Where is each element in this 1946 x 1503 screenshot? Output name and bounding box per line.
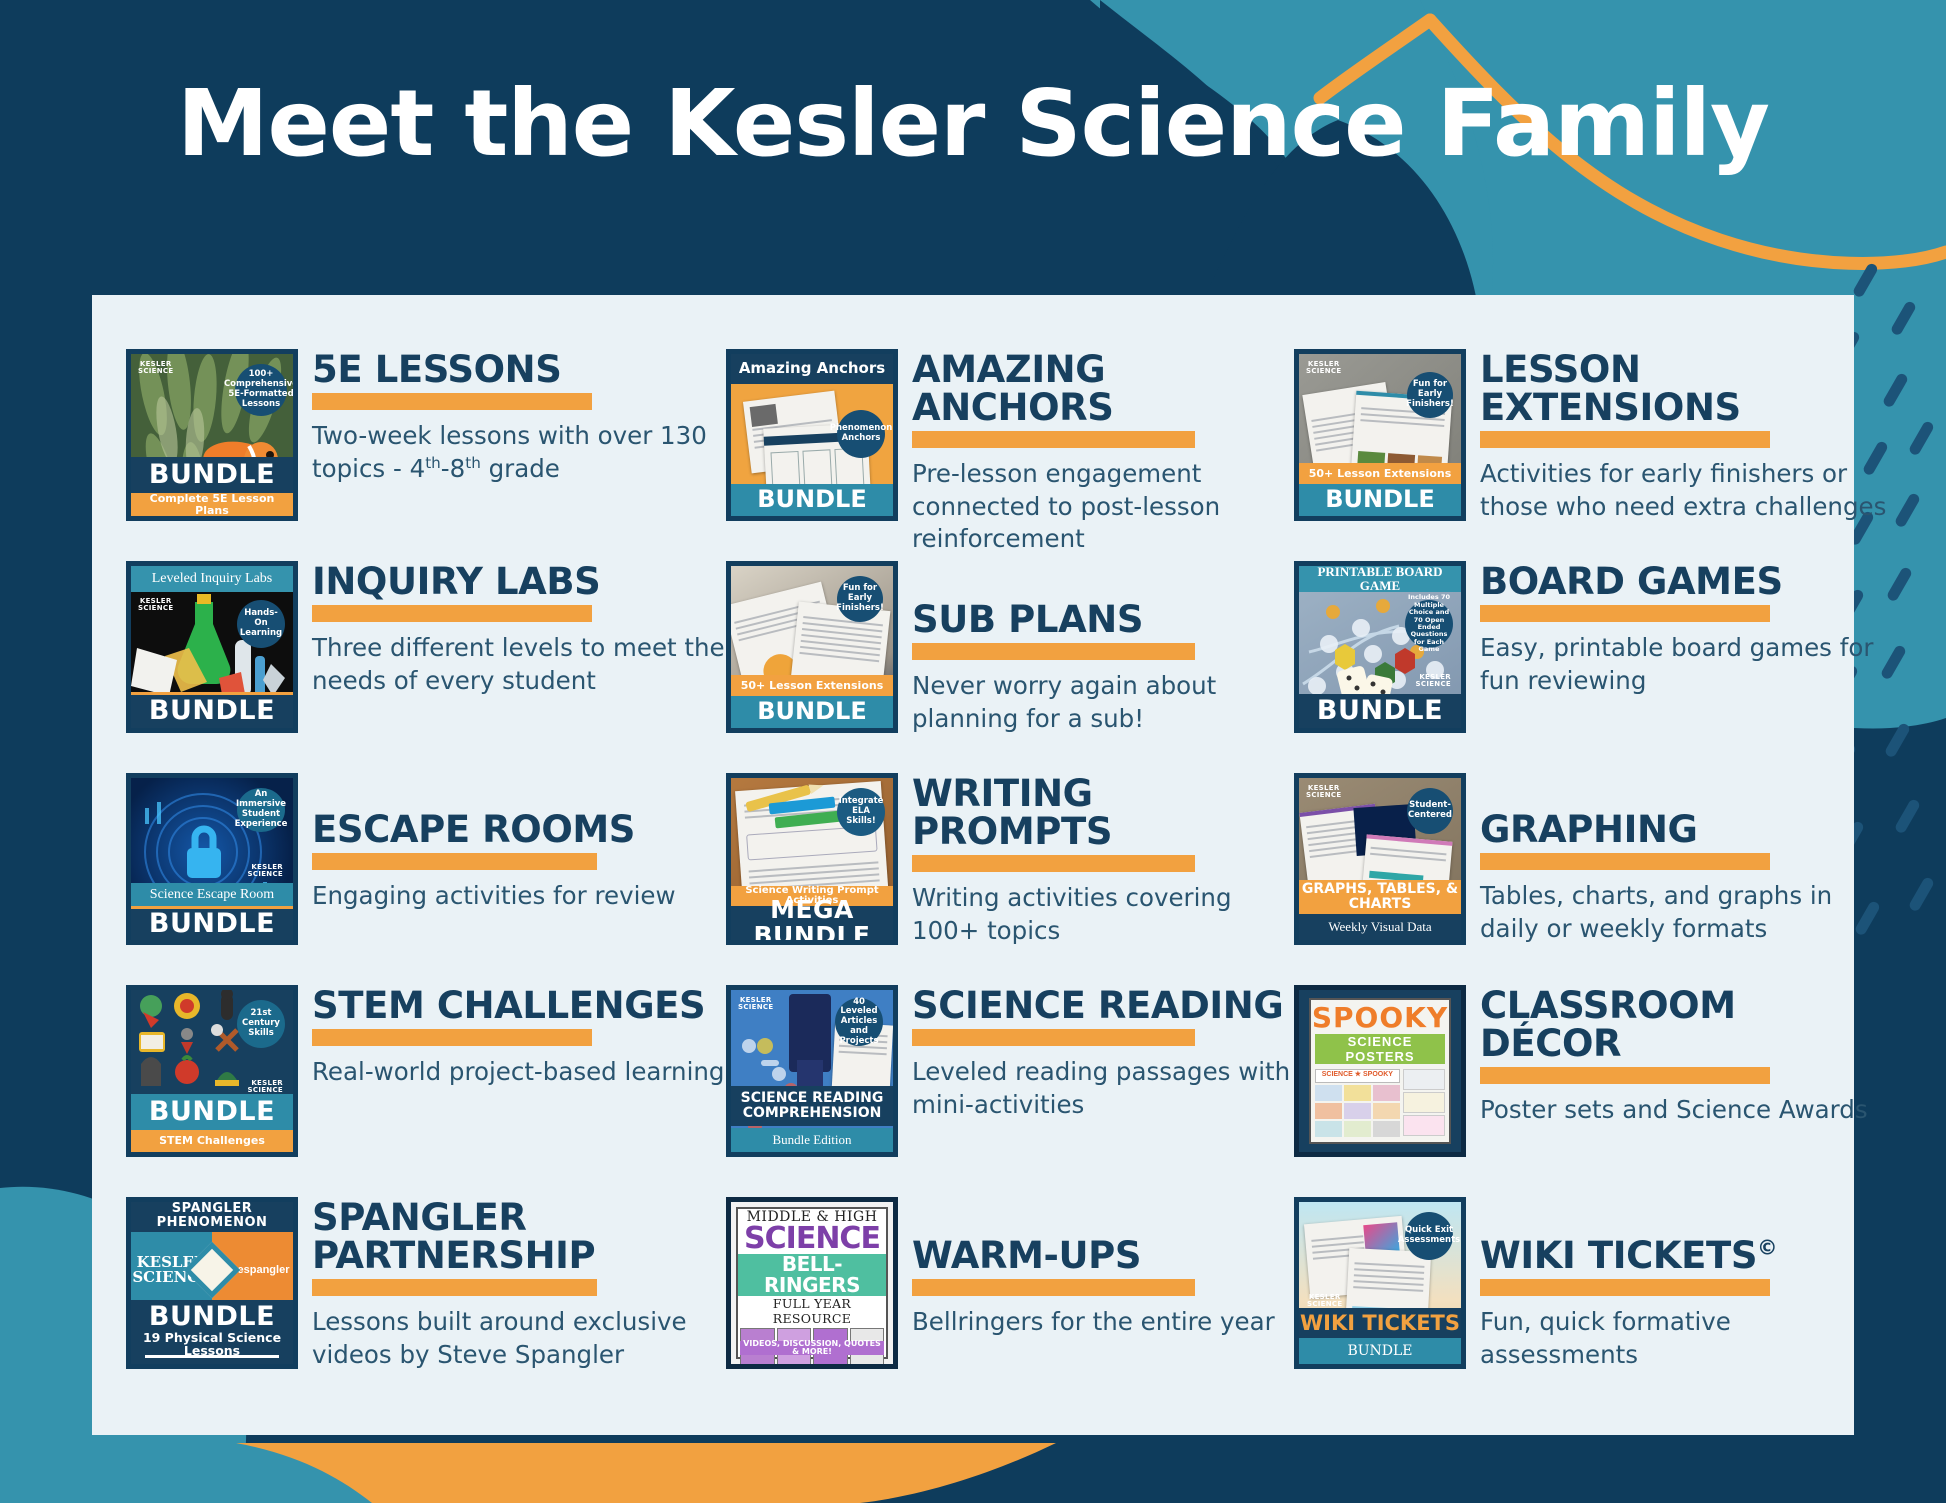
- thumbnail-badge: Student-Centered: [1407, 788, 1453, 834]
- thumbnail-toplabel: Amazing Anchors: [731, 354, 893, 384]
- thumbnail-escape-rooms: An Immersive Student Experience KESLERSC…: [126, 773, 298, 945]
- product-item[interactable]: KESLERSCIENCE 100+ Comprehensive 5E-Form…: [126, 345, 726, 557]
- product-description: Activities for early finishers or those …: [1480, 458, 1888, 523]
- kesler-science-logo: KESLERSCIENCE: [1306, 361, 1341, 375]
- title-underline-bar: [912, 431, 1195, 448]
- thumbnail-bundle-label: BUNDLE: [131, 457, 293, 493]
- product-text: 5E LESSONS Two-week lessons with over 13…: [298, 345, 726, 485]
- thumbnail-sublabel: 50+ Lesson Extensions: [731, 675, 893, 696]
- product-description: Tables, charts, and graphs in daily or w…: [1480, 880, 1888, 945]
- product-item[interactable]: Amazing Anchors Phenomenon Anchors BUNDL…: [726, 345, 1294, 557]
- product-title: AMAZING ANCHORS: [912, 351, 1294, 427]
- product-text: CLASSROOM DÉCOR Poster sets and Science …: [1466, 981, 1888, 1127]
- product-text: WRITING PROMPTS Writing activities cover…: [898, 769, 1294, 947]
- thumbnail-sublabel: Weekly Visual Data: [1299, 914, 1461, 940]
- thumbnail-spangler-partnership: SPANGLER PHENOMENON KESLERSCIENCE steves…: [126, 1197, 298, 1369]
- product-thumbnail-wrap: KESLERSCIENCE 100+ Comprehensive 5E-Form…: [126, 345, 298, 521]
- thumbnail-bundle-label: BUNDLE: [131, 695, 293, 728]
- title-underline-bar: [312, 605, 592, 622]
- thumbnail-bundle-label: BUNDLE: [131, 1094, 293, 1130]
- thumbnail-badge: Hands-On Learning: [237, 600, 285, 648]
- product-title: WIKI TICKETS©: [1480, 1237, 1888, 1275]
- thumbnail-stem-challenges: 21st Century Skills KESLERSCIENCE BUNDLE…: [126, 985, 298, 1157]
- title-underline-bar: [912, 1279, 1195, 1296]
- product-item[interactable]: MIDDLE & HIGH SCIENCE BELL-RINGERS FULL …: [726, 1193, 1294, 1405]
- thumbnail-5e-lessons: KESLERSCIENCE 100+ Comprehensive 5E-Form…: [126, 349, 298, 521]
- product-title: ESCAPE ROOMS: [312, 811, 726, 849]
- product-item[interactable]: Fun for Early Finishers! 50+ Lesson Exte…: [726, 557, 1294, 769]
- product-title: GRAPHING: [1480, 811, 1888, 849]
- thumbnail-bundle-label: WIKI TICKETS: [1299, 1308, 1461, 1338]
- thumbnail-sublabel: Bundle Edition: [731, 1128, 893, 1152]
- product-text: WARM-UPS Bellringers for the entire year: [898, 1193, 1294, 1339]
- product-item[interactable]: An Immersive Student Experience KESLERSC…: [126, 769, 726, 981]
- bottom-wave-group: [0, 1443, 1946, 1503]
- title-underline-bar: [1480, 1067, 1770, 1084]
- product-description: Real-world project-based learning: [312, 1056, 726, 1089]
- thumbnail-badge: An Immersive Student Experience: [237, 788, 285, 832]
- thumbnail-bundle-label: BUNDLE: [1299, 484, 1461, 516]
- product-thumbnail-wrap: 21st Century Skills KESLERSCIENCE BUNDLE…: [126, 981, 298, 1157]
- product-description: Writing activities covering 100+ topics: [912, 882, 1294, 947]
- product-title: STEM CHALLENGES: [312, 987, 726, 1025]
- product-title: LESSON EXTENSIONS: [1480, 351, 1888, 427]
- product-item[interactable]: KESLERSCIENCE Student-Centered GRAPHS, T…: [1294, 769, 1888, 981]
- thumbnail-graphing: KESLERSCIENCE Student-Centered GRAPHS, T…: [1294, 773, 1466, 945]
- product-title: SUB PLANS: [912, 601, 1294, 639]
- product-title: WRITING PROMPTS: [912, 775, 1294, 851]
- products-grid: KESLERSCIENCE 100+ Comprehensive 5E-Form…: [126, 345, 1820, 1405]
- product-thumbnail-wrap: Integrate ELA Skills! Science Writing Pr…: [726, 769, 898, 945]
- title-underline-bar: [312, 393, 592, 410]
- kesler-science-logo: KESLERSCIENCE: [248, 864, 283, 878]
- product-item[interactable]: 21st Century Skills KESLERSCIENCE BUNDLE…: [126, 981, 726, 1193]
- product-thumbnail-wrap: SPANGLER PHENOMENON KESLERSCIENCE steves…: [126, 1193, 298, 1369]
- products-panel: KESLERSCIENCE 100+ Comprehensive 5E-Form…: [92, 295, 1854, 1435]
- product-thumbnail-wrap: KESLERSCIENCE 40 Leveled Articles and Pr…: [726, 981, 898, 1157]
- product-description: Leveled reading passages with mini-activ…: [912, 1056, 1294, 1121]
- poster-sheet: SPOOKY SCIENCE POSTERS SCIENCE ★ SPOOKY: [1309, 998, 1451, 1144]
- title-underline-bar: [312, 853, 597, 870]
- product-thumbnail-wrap: Fun for Early Finishers! 50+ Lesson Exte…: [726, 557, 898, 733]
- title-underline-bar: [1480, 1279, 1770, 1296]
- bellringer-cover: MIDDLE & HIGH SCIENCE BELL-RINGERS FULL …: [736, 1207, 888, 1359]
- thumbnail-writing-prompts: Integrate ELA Skills! Science Writing Pr…: [726, 773, 898, 945]
- product-description: Poster sets and Science Awards: [1480, 1094, 1888, 1127]
- title-underline-bar: [912, 643, 1195, 660]
- product-text: AMAZING ANCHORS Pre-lesson engagement co…: [898, 345, 1294, 556]
- product-thumbnail-wrap: An Immersive Student Experience KESLERSC…: [126, 769, 298, 945]
- product-thumbnail-wrap: PRINTABLE BOARD GAME: [1294, 557, 1466, 733]
- thumbnail-sublabel: VIDEOS, DISCUSSION, QUOTES & MORE!: [740, 1341, 884, 1355]
- title-underline-bar: [912, 1029, 1195, 1046]
- thumbnail-warm-ups: MIDDLE & HIGH SCIENCE BELL-RINGERS FULL …: [726, 1197, 898, 1369]
- product-thumbnail-wrap: Quick Exit Assessments KESLERSCIENCE WIK…: [1294, 1193, 1466, 1369]
- product-description: Easy, printable board games for fun revi…: [1480, 632, 1888, 697]
- thumbnail-lesson-extensions: KESLERSCIENCE Fun for Early Finishers! 5…: [1294, 349, 1466, 521]
- thumbnail-badge: Fun for Early Finishers!: [1407, 372, 1453, 418]
- thumbnail-bundle-label: BUNDLE: [731, 696, 893, 728]
- product-item[interactable]: KESLERSCIENCE Fun for Early Finishers! 5…: [1294, 345, 1888, 557]
- product-text: SPANGLER PARTNERSHIP Lessons built aroun…: [298, 1193, 726, 1371]
- kesler-science-logo: KESLERSCIENCE: [1416, 674, 1451, 688]
- thumbnail-inquiry-labs: Leveled Inquiry Labs KESLERSCIENCE Hands…: [126, 561, 298, 733]
- thumbnail-amazing-anchors: Amazing Anchors Phenomenon Anchors BUNDL…: [726, 349, 898, 521]
- thumbnail-bundle-label: BUNDLE: [131, 1300, 293, 1334]
- product-description: Engaging activities for review: [312, 880, 726, 913]
- title-underline-bar: [1480, 853, 1770, 870]
- product-item[interactable]: Quick Exit Assessments KESLERSCIENCE WIK…: [1294, 1193, 1888, 1405]
- product-text: SUB PLANS Never worry again about planni…: [898, 557, 1294, 735]
- product-description: Pre-lesson engagement connected to post-…: [912, 458, 1294, 556]
- thumbnail-board-games: PRINTABLE BOARD GAME: [1294, 561, 1466, 733]
- product-item[interactable]: Leveled Inquiry Labs KESLERSCIENCE Hands…: [126, 557, 726, 769]
- thumbnail-bundle-label: MEGA BUNDLE: [731, 906, 893, 940]
- thumbnail-badge: Quick Exit Assessments: [1405, 1212, 1453, 1260]
- kesler-science-logo: KESLERSCIENCE: [138, 361, 173, 375]
- thumbnail-badge: Integrate ELA Skills!: [837, 788, 885, 836]
- title-underline-bar: [312, 1029, 592, 1046]
- product-text: INQUIRY LABS Three different levels to m…: [298, 557, 726, 697]
- product-item[interactable]: SPANGLER PHENOMENON KESLERSCIENCE steves…: [126, 1193, 726, 1405]
- product-title: BOARD GAMES: [1480, 563, 1888, 601]
- product-text: SCIENCE READING Leveled reading passages…: [898, 981, 1294, 1121]
- title-underline-bar: [912, 855, 1195, 872]
- thumbnail-wiki-tickets: Quick Exit Assessments KESLERSCIENCE WIK…: [1294, 1197, 1466, 1369]
- thumbnail-sublabel: BUNDLE: [1299, 1338, 1461, 1364]
- thumbnail-badge: 21st Century Skills: [237, 1000, 285, 1048]
- thumbnail-bundle-label: GRAPHS, TABLES, & CHARTS: [1299, 880, 1461, 914]
- product-title: WARM-UPS: [912, 1237, 1294, 1275]
- product-text: GRAPHING Tables, charts, and graphs in d…: [1466, 769, 1888, 945]
- thumbnail-classroom-decor: SPOOKY SCIENCE POSTERS SCIENCE ★ SPOOKY: [1294, 985, 1466, 1157]
- product-description: Bellringers for the entire year: [912, 1306, 1294, 1339]
- thumbnail-bundle-label: BUNDLE: [1299, 694, 1461, 728]
- thumbnail-badge: 100+ Comprehensive 5E-Formatted Lessons: [235, 364, 287, 416]
- product-text: ESCAPE ROOMS Engaging activities for rev…: [298, 769, 726, 913]
- thumbnail-sub-plans: Fun for Early Finishers! 50+ Lesson Exte…: [726, 561, 898, 733]
- product-title: 5E LESSONS: [312, 351, 726, 389]
- thumbnail-sublabel: STEM Challenges: [131, 1130, 293, 1152]
- title-underline-bar: [1480, 605, 1770, 622]
- product-description: Three different levels to meet the needs…: [312, 632, 726, 697]
- product-text: LESSON EXTENSIONS Activities for early f…: [1466, 345, 1888, 523]
- product-thumbnail-wrap: MIDDLE & HIGH SCIENCE BELL-RINGERS FULL …: [726, 1193, 898, 1369]
- kesler-science-logo: KESLERSCIENCE: [248, 1080, 283, 1094]
- product-text: WIKI TICKETS© Fun, quick formative asses…: [1466, 1193, 1888, 1371]
- product-title: CLASSROOM DÉCOR: [1480, 987, 1888, 1063]
- divider: [145, 1355, 279, 1358]
- product-thumbnail-wrap: SPOOKY SCIENCE POSTERS SCIENCE ★ SPOOKY: [1294, 981, 1466, 1157]
- thumbnail-toplabel: SPANGLER PHENOMENON: [131, 1202, 293, 1230]
- thumbnail-bundle-label: BUNDLE: [131, 909, 293, 940]
- kesler-science-logo: KESLERSCIENCE: [1307, 1294, 1342, 1308]
- product-description: Fun, quick formative assessments: [1480, 1306, 1888, 1371]
- thumbnail-sublabel: 50+ Lesson Extensions: [1299, 463, 1461, 484]
- thumbnail-toplabel: Leveled Inquiry Labs: [131, 566, 293, 592]
- kesler-science-logo: KESLERSCIENCE: [738, 997, 773, 1011]
- thumbnail-science-reading: KESLERSCIENCE 40 Leveled Articles and Pr…: [726, 985, 898, 1157]
- product-title: INQUIRY LABS: [312, 563, 726, 601]
- thumbnail-badge: Fun for Early Finishers!: [837, 576, 883, 622]
- product-thumbnail-wrap: Leveled Inquiry Labs KESLERSCIENCE Hands…: [126, 557, 298, 733]
- product-thumbnail-wrap: KESLERSCIENCE Student-Centered GRAPHS, T…: [1294, 769, 1466, 945]
- thumbnail-toplabel: Science Escape Room: [131, 883, 293, 907]
- product-description: Never worry again about planning for a s…: [912, 670, 1294, 735]
- product-title: SPANGLER PARTNERSHIP: [312, 1199, 726, 1275]
- product-description: Lessons built around exclusive videos by…: [312, 1306, 726, 1371]
- product-thumbnail-wrap: Amazing Anchors Phenomenon Anchors BUNDL…: [726, 345, 898, 521]
- product-item[interactable]: KESLERSCIENCE 40 Leveled Articles and Pr…: [726, 981, 1294, 1193]
- thumbnail-badge: Includes 70 Multiple Choice and 70 Open …: [1405, 600, 1453, 648]
- kesler-science-logo: KESLERSCIENCE: [1306, 785, 1341, 799]
- product-title: SCIENCE READING: [912, 987, 1294, 1025]
- thumbnail-sublabel: 19 Physical Science Lessons: [131, 1334, 293, 1354]
- thumbnail-toplabel: PRINTABLE BOARD GAME: [1299, 566, 1461, 592]
- thumbnail-badge: 40 Leveled Articles and Projects: [835, 998, 883, 1046]
- product-item[interactable]: PRINTABLE BOARD GAME: [1294, 557, 1888, 769]
- thumbnail-sublabel: Complete 5E Lesson Plans: [131, 493, 293, 516]
- thumbnail-bundle-label: BUNDLE: [731, 484, 893, 516]
- thumbnail-badge: Phenomenon Anchors: [837, 410, 885, 458]
- product-text: STEM CHALLENGES Real-world project-based…: [298, 981, 726, 1089]
- product-text: BOARD GAMES Easy, printable board games …: [1466, 557, 1888, 697]
- product-description: Two-week lessons with over 130 topics - …: [312, 420, 726, 485]
- thumbnail-bundle-label: SCIENCE READING COMPREHENSION: [731, 1086, 893, 1126]
- product-item[interactable]: Integrate ELA Skills! Science Writing Pr…: [726, 769, 1294, 981]
- title-underline-bar: [312, 1279, 597, 1296]
- product-thumbnail-wrap: KESLERSCIENCE Fun for Early Finishers! 5…: [1294, 345, 1466, 521]
- title-underline-bar: [1480, 431, 1770, 448]
- page-title: Meet the Kesler Science Family: [0, 78, 1946, 170]
- product-item[interactable]: SPOOKY SCIENCE POSTERS SCIENCE ★ SPOOKY: [1294, 981, 1888, 1193]
